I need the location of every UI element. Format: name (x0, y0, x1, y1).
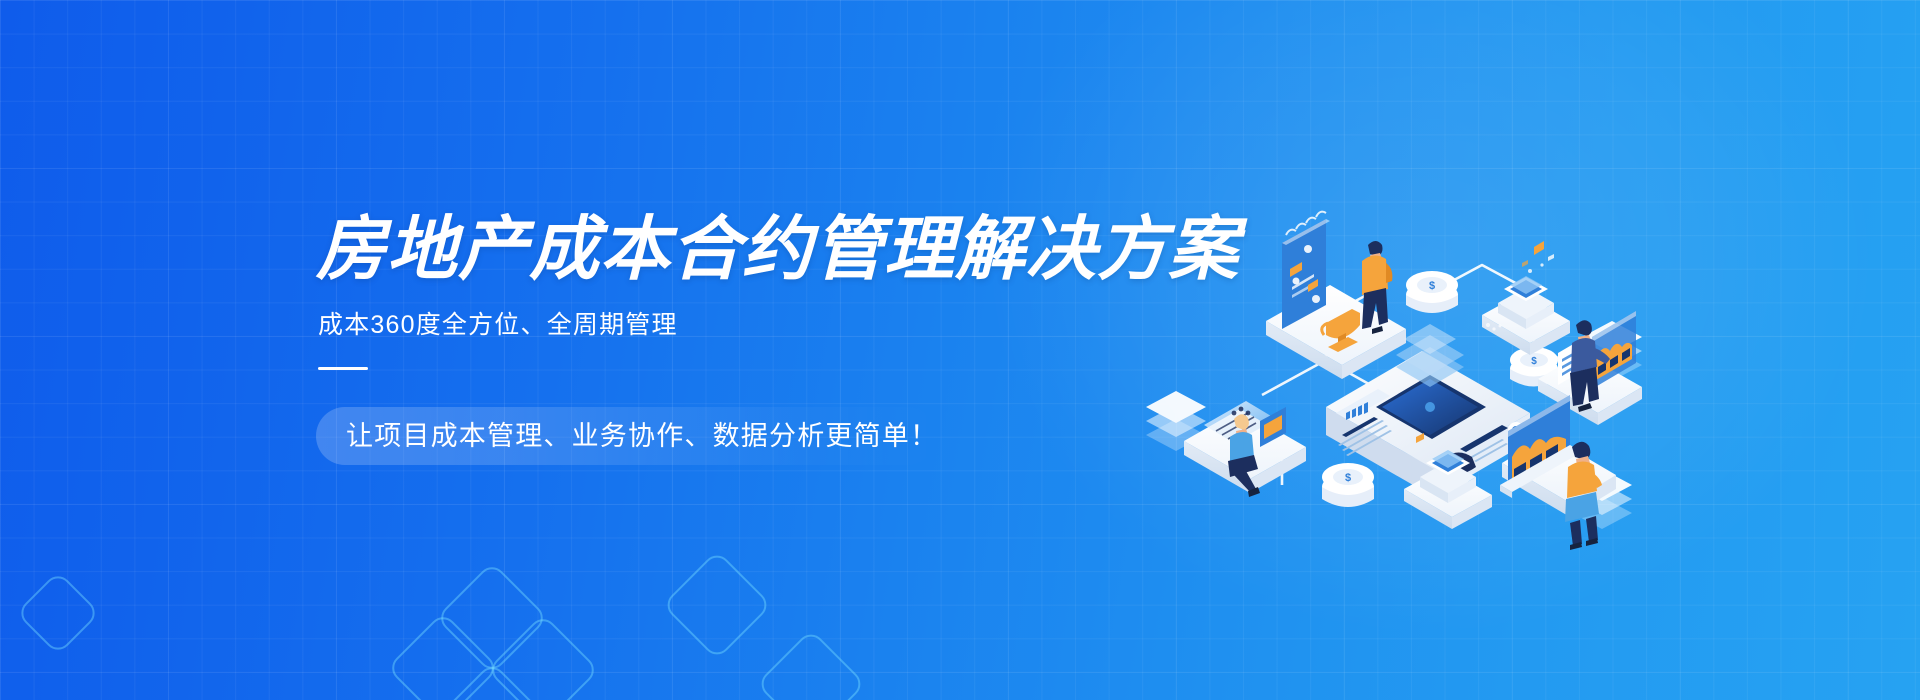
coin-stack-lower: $ (1322, 463, 1374, 507)
diamond-outline-cluster-bottom (435, 661, 548, 700)
coin-stack-upper: $ (1406, 271, 1458, 313)
diamond-outline-cluster-top (435, 561, 548, 674)
svg-text:$: $ (1429, 280, 1435, 292)
hero-banner: 房地产成本合约管理解决方案 成本360度全方位、全周期管理 让项目成本管理、业务… (0, 0, 1920, 700)
platform-document (1184, 401, 1306, 497)
page-title: 房地产成本合约管理解决方案 (316, 214, 1216, 284)
svg-text:$: $ (1345, 472, 1351, 484)
platform-calendar (1266, 185, 1406, 379)
title-divider (318, 367, 368, 370)
diamond-outline-cluster-left (386, 611, 499, 700)
svg-text:$: $ (1531, 356, 1537, 367)
diamond-outline-cluster-right (486, 613, 599, 700)
page-subtitle: 成本360度全方位、全周期管理 (318, 310, 1216, 340)
diamond-outline-mid-left (662, 550, 772, 660)
tagline-text: 让项目成本管理、业务协作、数据分析更简单！ (346, 407, 938, 465)
hero-copy: 房地产成本合约管理解决方案 成本360度全方位、全周期管理 让项目成本管理、业务… (316, 214, 1216, 465)
platform-pedestal-top (1482, 241, 1570, 355)
isometric-cost-management-illustration: $ $ $ (1130, 185, 1690, 565)
tagline-container: 让项目成本管理、业务协作、数据分析更简单！ (316, 407, 1016, 465)
diamond-outline-small-left (16, 571, 101, 656)
diamond-outline-mid-center (756, 629, 866, 700)
